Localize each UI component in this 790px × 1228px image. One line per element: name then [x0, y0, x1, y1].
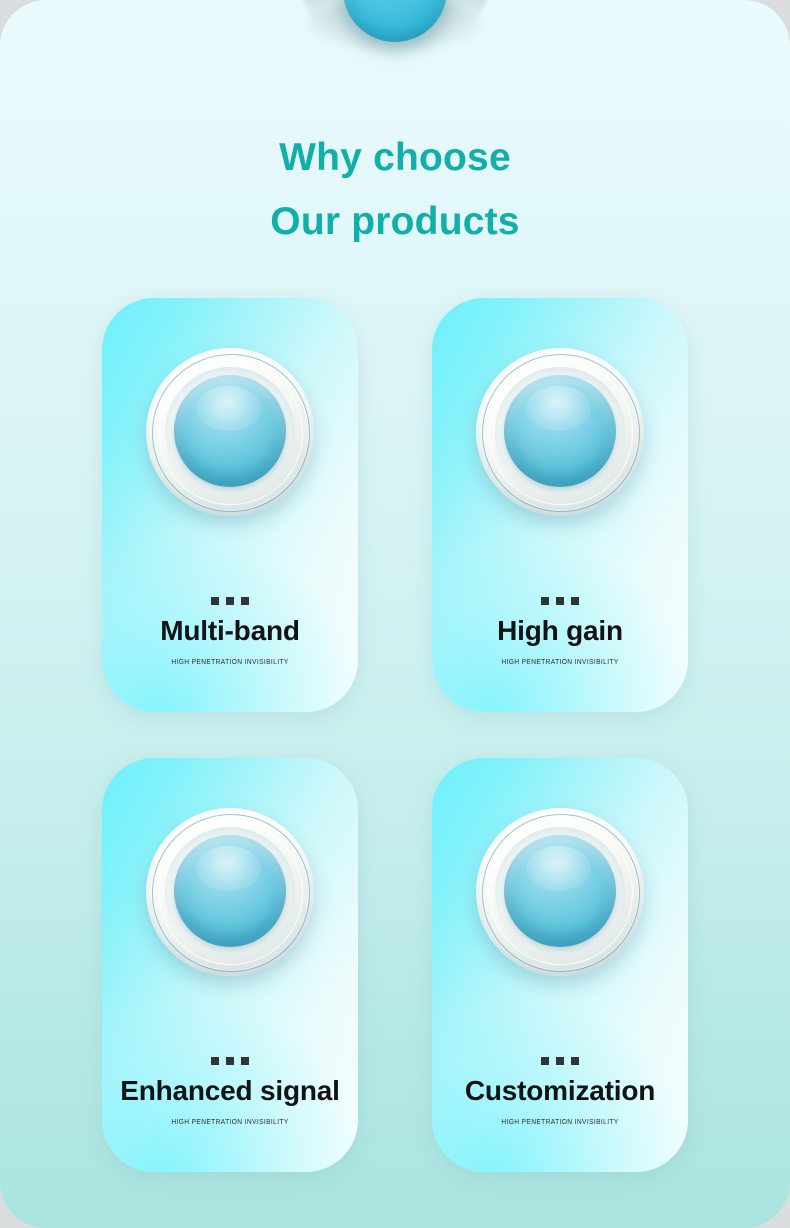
card-text-block: Enhanced signal HIGH PENETRATION INVISIB…	[102, 1057, 358, 1126]
card-caption: HIGH PENETRATION INVISIBILITY	[453, 1117, 668, 1126]
feature-card-row: Enhanced signal HIGH PENETRATION INVISIB…	[102, 758, 688, 1172]
section-heading: Why choose Our products	[0, 126, 790, 254]
feature-card-grid: Multi-band HIGH PENETRATION INVISIBILITY	[102, 298, 688, 1172]
card-text-block: Multi-band HIGH PENETRATION INVISIBILITY	[102, 597, 358, 666]
three-dots-icon	[438, 1057, 682, 1065]
card-caption: HIGH PENETRATION INVISIBILITY	[123, 1117, 338, 1126]
feature-card-enhanced-signal[interactable]: Enhanced signal HIGH PENETRATION INVISIB…	[102, 758, 358, 1172]
card-title: Multi-band	[108, 614, 352, 648]
three-dots-icon	[108, 597, 352, 605]
card-title: Enhanced signal	[108, 1074, 352, 1108]
heading-line-2: Our products	[0, 190, 790, 254]
three-dots-icon	[438, 597, 682, 605]
card-caption: HIGH PENETRATION INVISIBILITY	[453, 657, 668, 666]
double-chevron-down-icon	[367, 0, 423, 4]
card-title: High gain	[438, 614, 682, 648]
feature-card-high-gain[interactable]: High gain HIGH PENETRATION INVISIBILITY	[432, 298, 688, 712]
card-text-block: High gain HIGH PENETRATION INVISIBILITY	[432, 597, 688, 666]
scroll-down-button-area	[0, 0, 790, 68]
card-title: Customization	[438, 1074, 682, 1108]
card-caption: HIGH PENETRATION INVISIBILITY	[123, 657, 338, 666]
antenna-dome-icon	[146, 808, 314, 976]
feature-card-customization[interactable]: Customization HIGH PENETRATION INVISIBIL…	[432, 758, 688, 1172]
three-dots-icon	[108, 1057, 352, 1065]
antenna-dome-icon	[476, 808, 644, 976]
feature-card-multi-band[interactable]: Multi-band HIGH PENETRATION INVISIBILITY	[102, 298, 358, 712]
heading-line-1: Why choose	[0, 126, 790, 190]
antenna-dome-icon	[146, 348, 314, 516]
product-features-page: Why choose Our products Multi-band	[0, 0, 790, 1228]
feature-card-row: Multi-band HIGH PENETRATION INVISIBILITY	[102, 298, 688, 712]
antenna-dome-icon	[476, 348, 644, 516]
card-text-block: Customization HIGH PENETRATION INVISIBIL…	[432, 1057, 688, 1126]
